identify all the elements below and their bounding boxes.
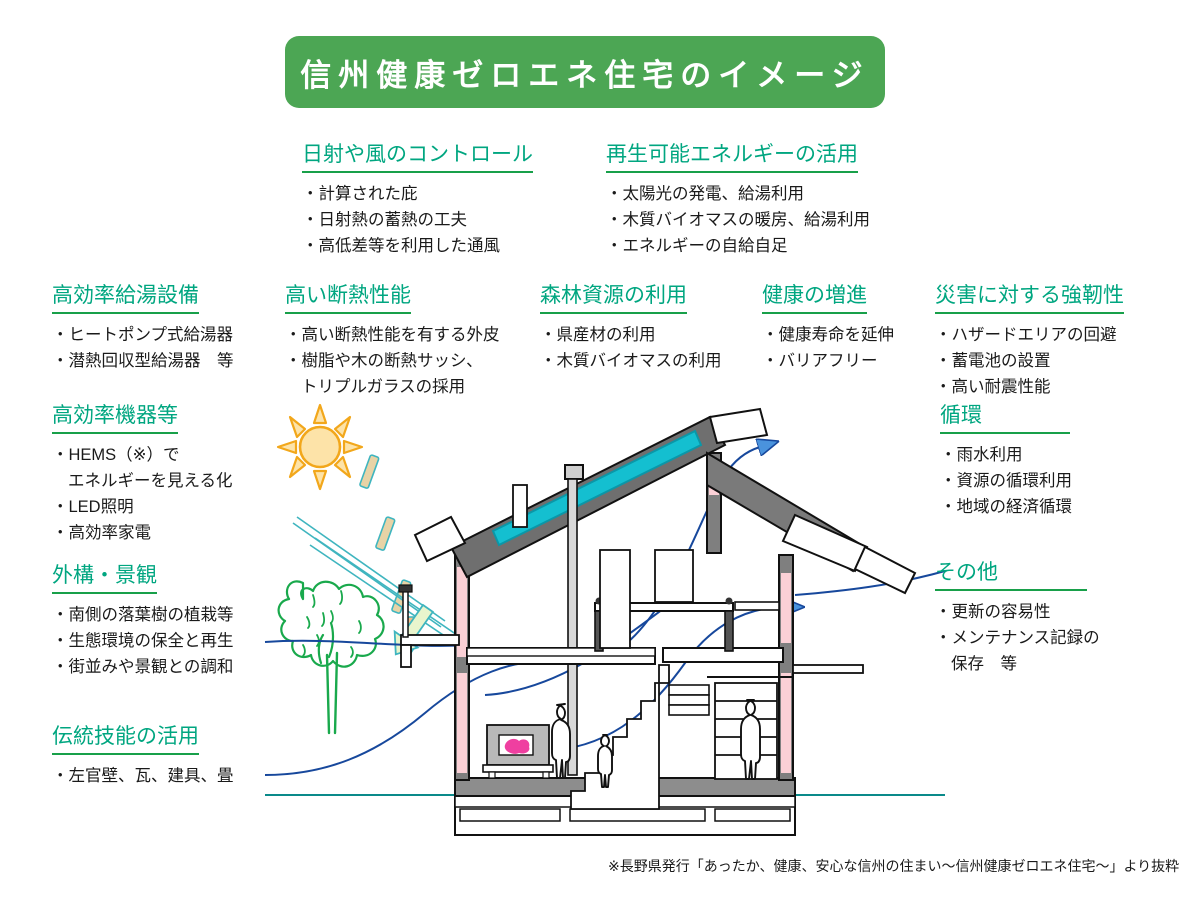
block-list: ・南側の落葉樹の植栽等 ・生態環境の保全と再生 ・街並みや景観との調和: [52, 602, 234, 680]
block-title: 災害に対する強靭性: [935, 283, 1124, 314]
list-item: ・生態環境の保全と再生: [52, 628, 234, 654]
list-item: ・資源の循環利用: [940, 468, 1072, 494]
list-item: ・高い断熱性能を有する外皮: [285, 322, 500, 348]
block-list: ・ハザードエリアの回避 ・蓄電池の設置 ・高い耐震性能: [935, 322, 1124, 400]
infographic-page: 信州健康ゼロエネ住宅のイメージ: [0, 0, 1200, 900]
block-title: 高効率機器等: [52, 403, 178, 434]
list-item: ・高い耐震性能: [935, 374, 1124, 400]
list-item: ・健康寿命を延伸: [762, 322, 894, 348]
list-item: ・日射熱の蓄熱の工夫: [302, 207, 533, 233]
block-list: ・雨水利用 ・資源の循環利用 ・地域の経済循環: [940, 442, 1072, 520]
list-item: ・メンテナンス記録の: [935, 625, 1100, 651]
house-cross-section-illustration: [255, 395, 955, 845]
block-title: 高い断熱性能: [285, 283, 411, 314]
list-item-continuation: トリプルガラスの採用: [285, 374, 500, 400]
list-item: ・ヒートポンプ式給湯器: [52, 322, 234, 348]
list-item: ・樹脂や木の断熱サッシ、: [285, 348, 500, 374]
list-item: ・高低差等を利用した通風: [302, 233, 533, 259]
block-list: ・県産材の利用 ・木質バイオマスの利用: [540, 322, 722, 374]
block-list: ・高い断熱性能を有する外皮 ・樹脂や木の断熱サッシ、 トリプルガラスの採用: [285, 322, 500, 400]
block-title: 高効率給湯設備: [52, 283, 199, 314]
block-list: ・計算された庇 ・日射熱の蓄熱の工夫 ・高低差等を利用した通風: [302, 181, 533, 259]
block-traditional-skills: 伝統技能の活用 ・左官壁、瓦、建具、畳: [52, 724, 234, 789]
block-title: 日射や風のコントロール: [302, 142, 533, 173]
block-high-efficiency-water-heater: 高効率給湯設備 ・ヒートポンプ式給湯器 ・潜熱回収型給湯器 等: [52, 283, 234, 374]
block-title: 森林資源の利用: [540, 283, 687, 314]
block-title: 伝統技能の活用: [52, 724, 199, 755]
list-item: ・左官壁、瓦、建具、畳: [52, 763, 234, 789]
deciduous-tree: [279, 581, 384, 733]
block-list: ・更新の容易性 ・メンテナンス記録の 保存 等: [935, 599, 1100, 677]
list-item: ・太陽光の発電、給湯利用: [606, 181, 870, 207]
block-title: 再生可能エネルギーの活用: [606, 142, 858, 173]
block-list: ・健康寿命を延伸 ・バリアフリー: [762, 322, 894, 374]
sun-icon: [278, 405, 362, 489]
block-list: ・ヒートポンプ式給湯器 ・潜熱回収型給湯器 等: [52, 322, 234, 374]
source-note: ※長野県発行「あったか、健康、安心な信州の住まい～信州健康ゼロエネ住宅～」より抜…: [608, 856, 1179, 876]
list-item: ・南側の落葉樹の植栽等: [52, 602, 234, 628]
list-item-continuation: エネルギーを見える化: [52, 468, 233, 494]
list-item: ・潜熱回収型給湯器 等: [52, 348, 234, 374]
list-item: ・エネルギーの自給自足: [606, 233, 870, 259]
list-item: ・更新の容易性: [935, 599, 1100, 625]
block-others: その他 ・更新の容易性 ・メンテナンス記録の 保存 等: [935, 560, 1100, 677]
list-item: ・ハザードエリアの回避: [935, 322, 1124, 348]
block-disaster-resilience: 災害に対する強靭性 ・ハザードエリアの回避 ・蓄電池の設置 ・高い耐震性能: [935, 283, 1124, 400]
block-title: その他: [935, 560, 1087, 591]
list-item: ・計算された庇: [302, 181, 533, 207]
block-list: ・左官壁、瓦、建具、畳: [52, 763, 234, 789]
staircase: [571, 665, 669, 809]
block-forest-resources: 森林資源の利用 ・県産材の利用 ・木質バイオマスの利用: [540, 283, 722, 374]
list-item: ・地域の経済循環: [940, 494, 1072, 520]
block-high-efficiency-equipment: 高効率機器等 ・HEMS（※）で エネルギーを見える化 ・LED照明 ・高効率家…: [52, 403, 233, 547]
block-health-promotion: 健康の増進 ・健康寿命を延伸 ・バリアフリー: [762, 283, 894, 374]
list-item: ・木質バイオマスの利用: [540, 348, 722, 374]
block-circulation: 循環 ・雨水利用 ・資源の循環利用 ・地域の経済循環: [940, 403, 1072, 520]
list-item: ・HEMS（※）で: [52, 442, 233, 468]
list-item: ・街並みや景観との調和: [52, 654, 234, 680]
block-solar-wind-control: 日射や風のコントロール ・計算された庇 ・日射熱の蓄熱の工夫 ・高低差等を利用し…: [302, 142, 533, 259]
list-item: ・雨水利用: [940, 442, 1072, 468]
page-title: 信州健康ゼロエネ住宅のイメージ: [300, 50, 869, 95]
block-title: 健康の増進: [762, 283, 867, 314]
block-renewable-energy: 再生可能エネルギーの活用 ・太陽光の発電、給湯利用 ・木質バイオマスの暖房、給湯…: [606, 142, 870, 259]
block-list: ・HEMS（※）で エネルギーを見える化 ・LED照明 ・高効率家電: [52, 442, 233, 546]
list-item: ・木質バイオマスの暖房、給湯利用: [606, 207, 870, 233]
list-item-continuation: 保存 等: [935, 651, 1100, 677]
house-structure: [399, 409, 915, 835]
block-high-insulation: 高い断熱性能 ・高い断熱性能を有する外皮 ・樹脂や木の断熱サッシ、 トリプルガラ…: [285, 283, 500, 400]
list-item: ・LED照明: [52, 494, 233, 520]
wood-stove: [483, 725, 553, 778]
block-exterior-landscape: 外構・景観 ・南側の落葉樹の植栽等 ・生態環境の保全と再生 ・街並みや景観との調…: [52, 563, 234, 680]
list-item: ・高効率家電: [52, 520, 233, 546]
list-item: ・県産材の利用: [540, 322, 722, 348]
block-title: 外構・景観: [52, 563, 157, 594]
block-title: 循環: [940, 403, 1070, 434]
block-list: ・太陽光の発電、給湯利用 ・木質バイオマスの暖房、給湯利用 ・エネルギーの自給自…: [606, 181, 870, 259]
list-item: ・蓄電池の設置: [935, 348, 1124, 374]
list-item: ・バリアフリー: [762, 348, 894, 374]
title-banner: 信州健康ゼロエネ住宅のイメージ: [285, 36, 885, 108]
